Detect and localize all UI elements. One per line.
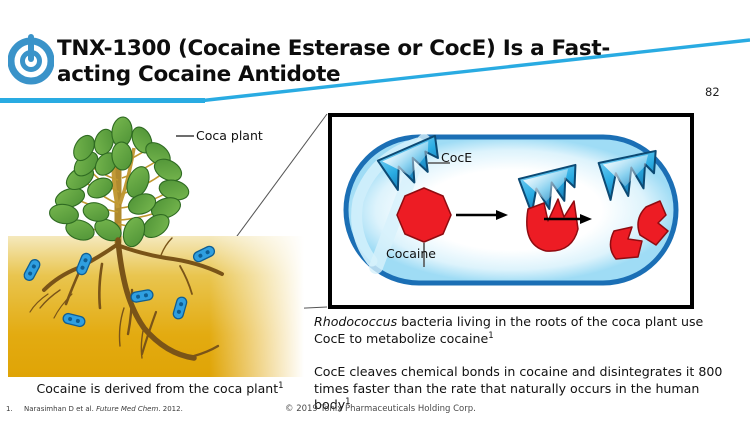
copyright-notice: © 2019 Tonix Pharmaceuticals Holding Cor… xyxy=(285,404,476,414)
coca-plant-label: Coca plant xyxy=(196,128,263,143)
page-number: 82 xyxy=(705,85,735,99)
plant-caption-text: Cocaine is derived from the coca plant xyxy=(36,381,278,396)
plant-caption: Cocaine is derived from the coca plant1 xyxy=(10,381,310,396)
header-rule xyxy=(0,98,750,103)
body-paragraph-1: Rhodococcus bacteria living in the roots… xyxy=(314,314,738,347)
coca-plant-leader-line xyxy=(176,135,194,137)
mechanism-diagram-box xyxy=(328,113,694,309)
footnote-author: Narasimhan D et al. xyxy=(24,405,96,413)
mechanism-diagram-graphic xyxy=(332,117,690,305)
species-name: Rhodococcus xyxy=(314,314,397,329)
body-paragraph-1-footnote: 1 xyxy=(488,330,493,340)
tonix-logo xyxy=(8,30,54,85)
slide-canvas: TNX-1300 (Cocaine Esterase or CocE) Is a… xyxy=(0,0,750,422)
footnote-journal: Future Med Chem xyxy=(96,405,158,413)
power-button-logo-icon xyxy=(8,30,54,85)
stage1-cocaine-molecule xyxy=(397,188,451,242)
footnote-marker: 1. xyxy=(6,405,13,413)
plant-caption-footnote: 1 xyxy=(278,381,283,391)
coca-plant-graphic xyxy=(8,112,318,377)
cocaine-label: Cocaine xyxy=(386,246,436,261)
footnote-citation: Narasimhan D et al. Future Med Chem. 201… xyxy=(24,405,183,413)
coce-label: CocE xyxy=(441,150,472,165)
coca-plant-illustration xyxy=(8,112,318,377)
footnote-year: . 2012. xyxy=(158,405,183,413)
page-title: TNX-1300 (Cocaine Esterase or CocE) Is a… xyxy=(57,36,677,88)
